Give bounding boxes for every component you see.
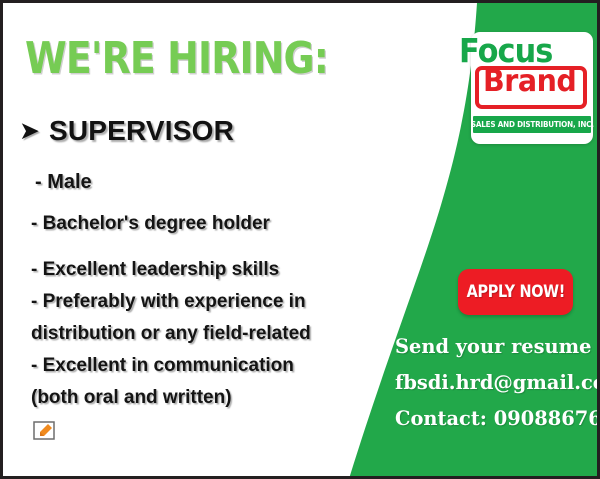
arrow-bullet-icon: ➤ <box>19 119 40 144</box>
edit-pencil-icon <box>33 421 55 440</box>
list-item: - Male <box>35 171 92 194</box>
contact-block: Send your resume to: fbsdi.hrd@gmail.com… <box>395 336 595 428</box>
apply-now-label: APPLY NOW! <box>466 282 564 302</box>
logo-tagline-text: SALES AND DISTRIBUTION, INC. <box>470 120 593 129</box>
list-item: - Bachelor's degree holder <box>31 213 270 235</box>
hiring-poster: WE'RE HIRING: ➤ SUPERVISOR - Male - Bach… <box>0 0 600 479</box>
list-item: (both oral and written) <box>31 387 232 409</box>
logo-brand-text: Brand <box>483 67 576 97</box>
left-content-column: WE'RE HIRING: ➤ SUPERVISOR - Male - Bach… <box>3 3 358 479</box>
apply-now-button[interactable]: APPLY NOW! <box>458 269 573 315</box>
resume-instruction: Send your resume to: <box>395 336 589 356</box>
job-title-row: ➤ SUPERVISOR <box>19 115 234 147</box>
logo-brand-box: Brand <box>475 66 587 109</box>
logo-tagline-bar: SALES AND DISTRIBUTION, INC. <box>473 116 591 133</box>
page-title: WE'RE HIRING: <box>25 37 328 81</box>
list-item: - Excellent in communication <box>31 355 294 377</box>
contact-phone[interactable]: Contact: 09088676190 <box>395 408 589 428</box>
job-title: SUPERVISOR <box>49 115 234 147</box>
list-item: distribution or any field-related <box>31 323 311 345</box>
logo-focus-text: Focus <box>459 34 552 67</box>
contact-email[interactable]: fbsdi.hrd@gmail.com <box>395 372 589 392</box>
list-item: - Excellent leadership skills <box>31 259 279 281</box>
company-logo: Focus Brand SALES AND DISTRIBUTION, INC. <box>471 32 593 144</box>
list-item: - Preferably with experience in <box>31 291 306 313</box>
